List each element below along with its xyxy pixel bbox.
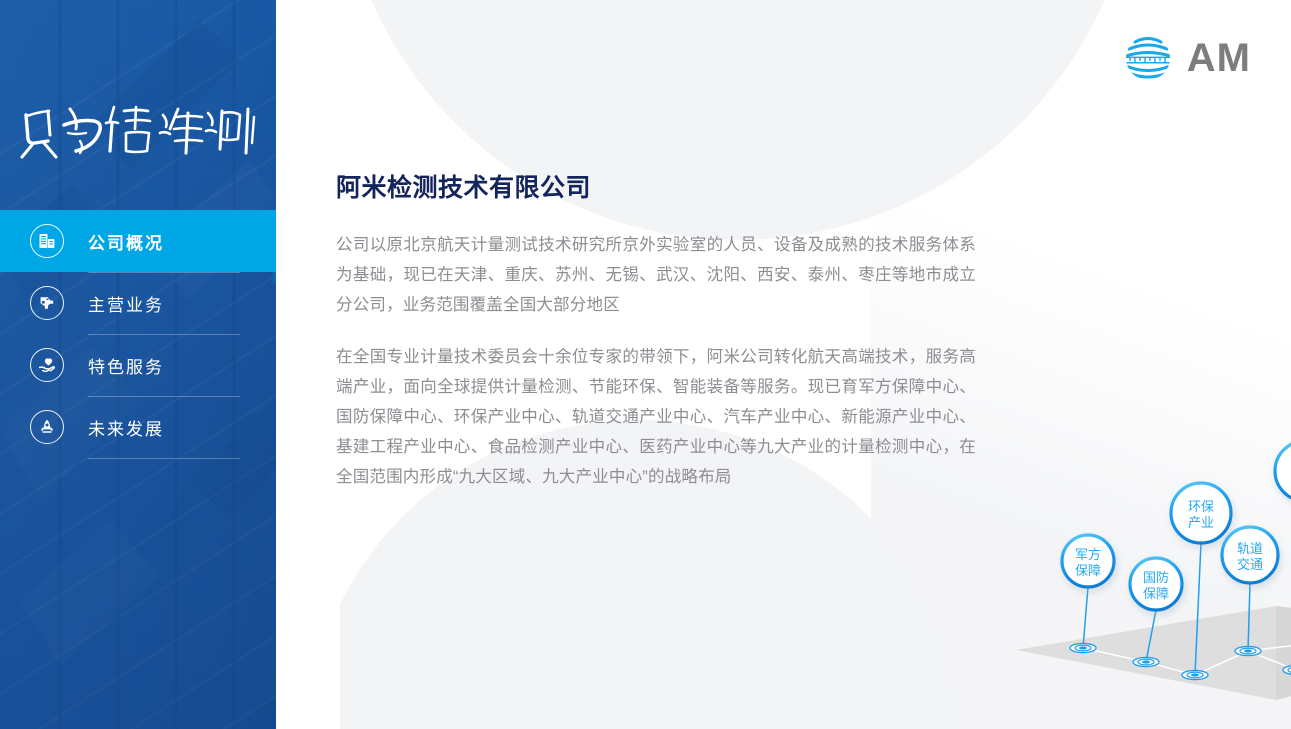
sidebar: 公司概况 主营业务 [0, 0, 276, 729]
content-block: 阿米检测技术有限公司 公司以原北京航天计量测试技术研究所京外实验室的人员、设备及… [336, 168, 976, 514]
measuring-tool-icon [30, 286, 64, 320]
sidebar-item-label: 未来发展 [88, 415, 164, 440]
bubble-label: 国防 [1143, 570, 1169, 585]
diagram-svg: 军方保障国防保障环保产业轨道交通汽车新能源基建工程食品检测医药 [976, 400, 1291, 720]
industry-bubble[interactable]: 国防保障 [1130, 558, 1182, 610]
brand-logo: AM [1123, 33, 1251, 83]
paragraph-1: 公司以原北京航天计量测试技术研究所京外实验室的人员、设备及成熟的技术服务体系为基… [336, 230, 976, 320]
slogan-calligraphy [18, 95, 258, 165]
industry-bubble[interactable]: 汽车 [1275, 441, 1291, 501]
sidebar-item-future-development[interactable]: 未来发展 [0, 396, 276, 458]
page-title: 阿米检测技术有限公司 [336, 168, 976, 204]
ground-node [1070, 643, 1096, 652]
industry-bubble[interactable]: 军方保障 [1062, 535, 1114, 587]
nine-industry-centers-diagram: 军方保障国防保障环保产业轨道交通汽车新能源基建工程食品检测医药 [976, 400, 1291, 720]
ground-node [1133, 657, 1159, 666]
sidebar-item-company-overview[interactable]: 公司概况 [0, 210, 276, 272]
ground-node [1235, 646, 1261, 655]
hand-heart-icon [30, 348, 64, 382]
industry-bubble[interactable]: 轨道交通 [1222, 527, 1278, 583]
bubble-label: 保障 [1075, 563, 1101, 578]
nav-divider [88, 458, 240, 459]
bubble-label: 产业 [1188, 515, 1214, 530]
bubble-label: 保障 [1143, 586, 1169, 601]
sidebar-item-label: 特色服务 [88, 353, 164, 378]
sidebar-curved-edge [276, 0, 340, 729]
sidebar-item-main-business[interactable]: 主营业务 [0, 272, 276, 334]
sidebar-nav: 公司概况 主营业务 [0, 210, 276, 458]
slogan-strokes [18, 95, 258, 165]
globe-ruler-icon [1123, 33, 1173, 83]
slide-root: 公司概况 主营业务 [0, 0, 1291, 729]
rocket-icon [30, 410, 64, 444]
brand-logo-text: AM [1187, 38, 1251, 78]
sidebar-item-label: 主营业务 [88, 291, 164, 316]
bubble-label: 交通 [1237, 557, 1263, 572]
sidebar-item-label: 公司概况 [88, 229, 164, 254]
bubble-label: 轨道 [1237, 541, 1263, 556]
main-content-area: AM 阿米检测技术有限公司 公司以原北京航天计量测试技术研究所京外实验室的人员、… [276, 0, 1291, 729]
industry-bubble[interactable]: 环保产业 [1171, 483, 1231, 543]
bubble-label: 军方 [1075, 547, 1101, 562]
building-icon [30, 224, 64, 258]
paragraph-2: 在全国专业计量技术委员会十余位专家的带领下，阿米公司转化航天高端技术，服务高端产… [336, 342, 976, 492]
bubble-ring [1275, 441, 1291, 501]
ground-node [1182, 670, 1208, 679]
bubble-label: 环保 [1188, 499, 1214, 514]
sidebar-item-featured-service[interactable]: 特色服务 [0, 334, 276, 396]
